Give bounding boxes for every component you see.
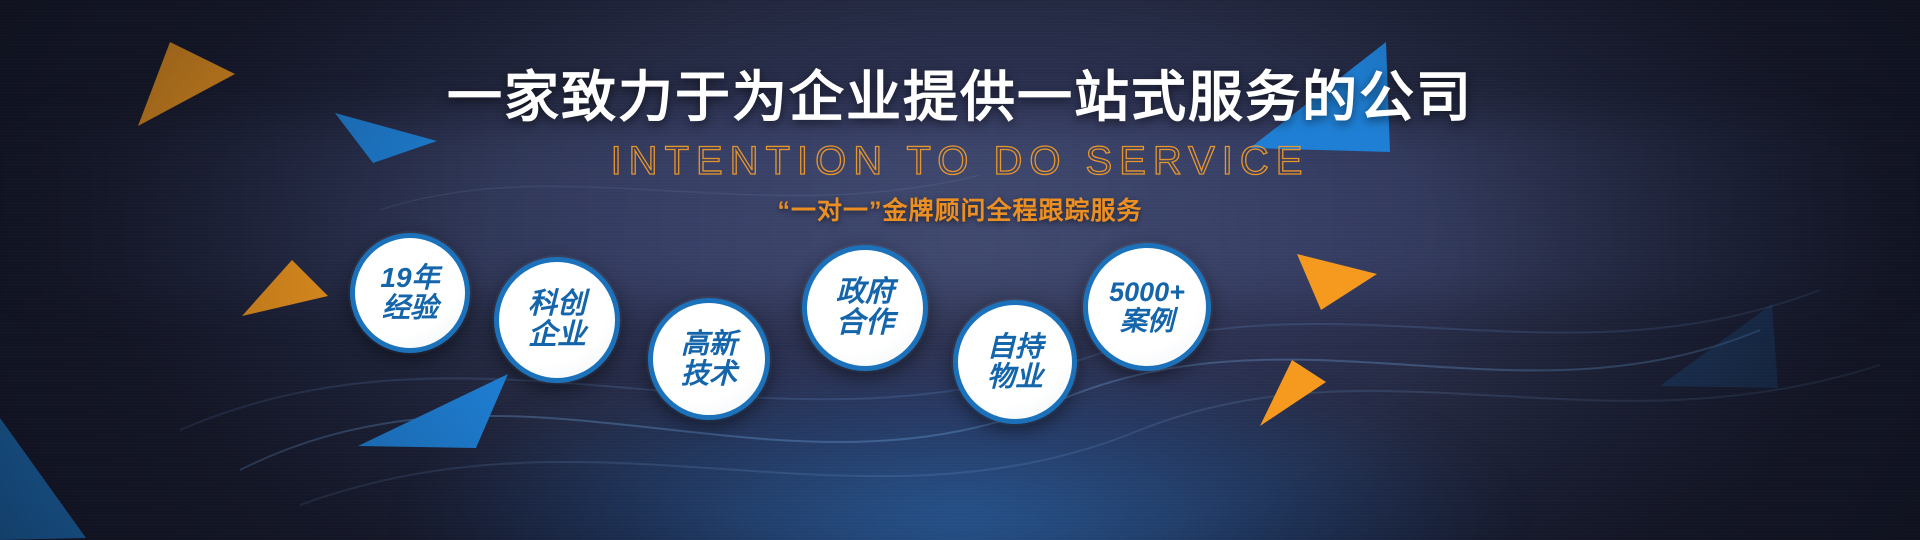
badge-line1: 19年 xyxy=(380,264,439,293)
badge-line1: 5000+ xyxy=(1109,279,1185,307)
badge-line1: 政府 xyxy=(836,278,894,308)
badge-government[interactable]: 政府 合作 xyxy=(802,245,928,371)
badge-line2: 合作 xyxy=(836,309,894,339)
badge-experience[interactable]: 19年 经验 xyxy=(350,233,470,353)
badge-tech-startup[interactable]: 科创 企业 xyxy=(494,257,620,383)
badge-line1: 自持 xyxy=(987,333,1043,362)
badge-self-owned-property[interactable]: 自持 物业 xyxy=(953,300,1077,424)
badge-line2: 物业 xyxy=(987,363,1043,392)
badge-line2: 案例 xyxy=(1120,308,1174,336)
badge-line2: 技术 xyxy=(681,360,737,389)
badge-line1: 高新 xyxy=(681,330,737,359)
badge-line1: 科创 xyxy=(528,290,586,320)
badge-cases[interactable]: 5000+ 案例 xyxy=(1083,243,1211,371)
hero-banner: 一家致力于为企业提供一站式服务的公司 INTENTION TO DO SERVI… xyxy=(0,0,1920,540)
badge-high-tech[interactable]: 高新 技术 xyxy=(648,298,770,420)
badge-line2: 企业 xyxy=(528,321,586,351)
badge-group: 19年 经验 科创 企业 高新 技术 政府 合作 自持 物业 5000+ 案例 xyxy=(0,0,1920,540)
badge-line2: 经验 xyxy=(382,294,438,323)
